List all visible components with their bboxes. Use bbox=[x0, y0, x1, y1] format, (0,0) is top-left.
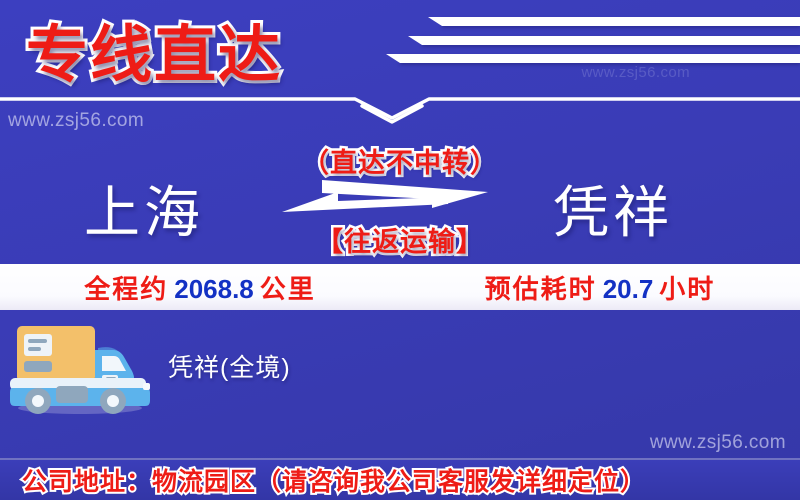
banner-headline: 专线直达 bbox=[26, 4, 282, 94]
distance-label-prefix: 全程约 bbox=[84, 274, 168, 304]
watermark-faint: www.zsj56.com bbox=[581, 64, 690, 81]
duration-metric: 预估耗时20.7小时 bbox=[400, 269, 800, 306]
decorative-stripe-3 bbox=[400, 54, 800, 63]
coverage-area-text: 凭祥(全境) bbox=[168, 348, 291, 384]
distance-value: 2068.8 bbox=[168, 274, 260, 304]
distance-label-suffix: 公里 bbox=[260, 274, 316, 304]
duration-label-suffix: 小时 bbox=[659, 274, 715, 304]
duration-label-prefix: 预估耗时 bbox=[485, 274, 597, 304]
direct-service-label: （直达不中转） bbox=[0, 141, 800, 180]
watermark-top-left: www.zsj56.com bbox=[8, 110, 144, 132]
round-trip-label: 【往返运输】 bbox=[0, 220, 800, 259]
bidirectional-arrow-icon bbox=[282, 178, 488, 218]
company-address-bar: 公司地址：物流园区（请咨询我公司客服发详细定位） bbox=[0, 458, 800, 500]
metrics-band: 全程约2068.8公里 预估耗时20.7小时 bbox=[0, 264, 800, 310]
decorative-stripe-2 bbox=[422, 36, 800, 45]
company-address-text: 公司地址：物流园区（请咨询我公司客服发详细定位） bbox=[22, 462, 646, 498]
decorative-stripe-1 bbox=[442, 17, 800, 26]
watermark-bottom-right: www.zsj56.com bbox=[650, 432, 786, 454]
delivery-truck-icon bbox=[6, 320, 156, 416]
duration-value: 20.7 bbox=[597, 274, 660, 304]
logistics-route-banner: 专线直达 www.zsj56.com www.zsj56.com 上海 凭祥 （… bbox=[0, 0, 800, 500]
distance-metric: 全程约2068.8公里 bbox=[0, 269, 400, 306]
